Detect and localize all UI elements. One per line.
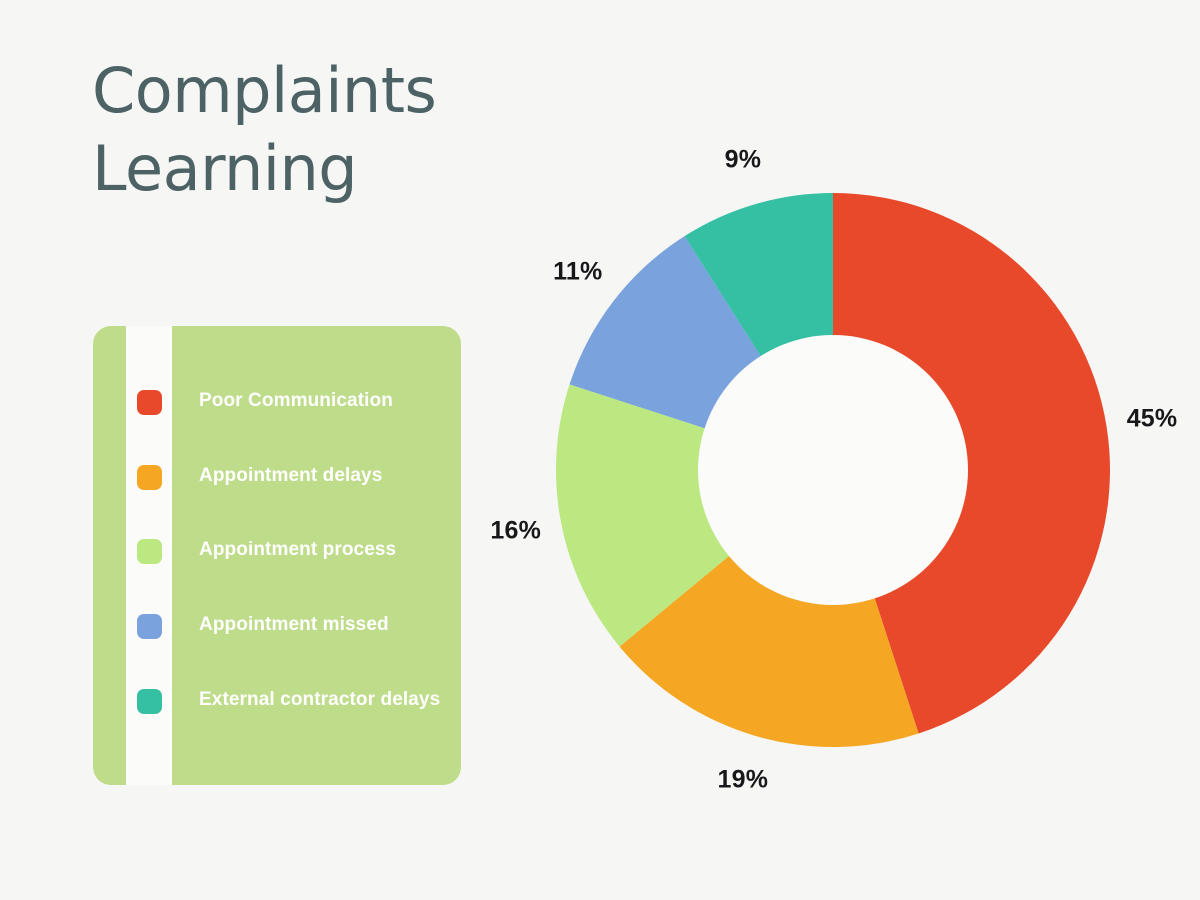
donut-chart: 45%19%16%11%9% (556, 193, 1110, 747)
donut-percent-label: 9% (725, 145, 762, 174)
legend-color-swatch (137, 614, 162, 639)
legend-item[interactable]: Appointment delays (93, 463, 461, 501)
legend-color-swatch (137, 689, 162, 714)
legend-item[interactable]: Poor Communication (93, 388, 461, 426)
legend-item[interactable]: Appointment missed (93, 612, 461, 650)
legend-card: Poor CommunicationAppointment delaysAppo… (93, 326, 461, 785)
legend-item-label: Appointment process (199, 537, 449, 562)
donut-percent-label: 19% (718, 766, 769, 795)
donut-chart-svg (556, 193, 1110, 747)
legend-item-label: External contractor delays (199, 687, 449, 712)
donut-center-hole (698, 335, 968, 605)
title-line-1: Complaints (92, 52, 512, 130)
page-title: Complaints Learning (92, 52, 512, 208)
legend-item-label: Appointment delays (199, 463, 449, 488)
donut-percent-label: 45% (1127, 405, 1178, 434)
legend-item-list: Poor CommunicationAppointment delaysAppo… (93, 326, 461, 785)
donut-percent-label: 16% (490, 516, 541, 545)
legend-item-label: Poor Communication (199, 388, 449, 413)
legend-item[interactable]: External contractor delays (93, 687, 461, 725)
slide-canvas: Complaints Learning Poor CommunicationAp… (0, 0, 1200, 900)
legend-item[interactable]: Appointment process (93, 537, 461, 575)
legend-color-swatch (137, 465, 162, 490)
donut-percent-label: 11% (553, 258, 602, 287)
legend-color-swatch (137, 539, 162, 564)
legend-item-label: Appointment missed (199, 612, 449, 637)
legend-color-swatch (137, 390, 162, 415)
title-line-2: Learning (92, 130, 512, 208)
